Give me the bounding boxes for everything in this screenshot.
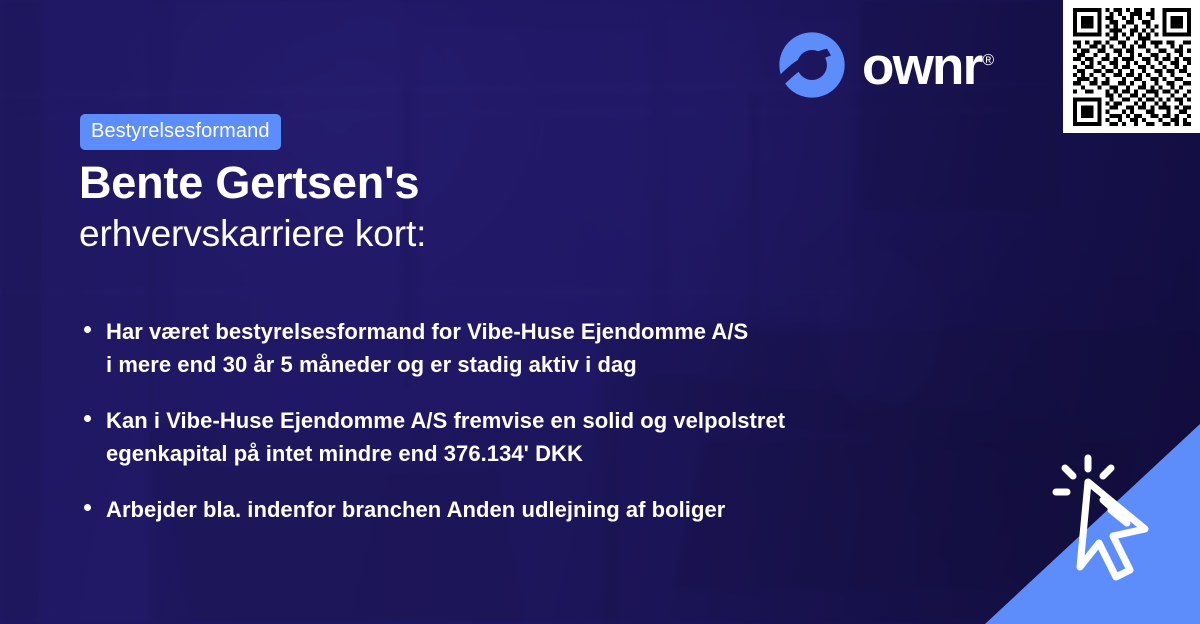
bullet-dot-icon (84, 415, 91, 422)
ownr-wordmark: ownr® (862, 40, 994, 93)
list-item: Kan i Vibe-Huse Ejendomme A/S fremvise e… (80, 404, 960, 471)
list-item-line-1: Arbejder bla. indenfor branchen Anden ud… (106, 497, 725, 522)
list-item-line-2: egenkapital på intet mindre end 376.134'… (106, 437, 960, 470)
click-cursor-icon (1056, 458, 1145, 577)
ownr-circle-swirl-logo-icon (778, 31, 846, 99)
corner-decoration (985, 424, 1200, 624)
page-subtitle: erhvervskarriere kort: (79, 212, 426, 256)
list-item-line-1: Kan i Vibe-Huse Ejendomme A/S fremvise e… (106, 408, 785, 433)
career-highlights-list: Har været bestyrelsesformand for Vibe-Hu… (80, 315, 960, 526)
list-item: Har været bestyrelsesformand for Vibe-Hu… (80, 315, 960, 382)
career-card: ownr® (0, 0, 1200, 624)
list-item: Arbejder bla. indenfor branchen Anden ud… (80, 493, 960, 526)
bullet-dot-icon (84, 326, 91, 333)
qr-code-panel[interactable] (1063, 0, 1200, 133)
list-item-line-2: i mere end 30 år 5 måneder og er stadig … (106, 348, 960, 381)
blue-corner-triangle (985, 424, 1200, 624)
page-title: Bente Gertsen's (79, 158, 419, 208)
registered-trademark-icon: ® (982, 52, 994, 69)
role-badge: Bestyrelsesformand (80, 114, 281, 150)
brand-name: ownr (862, 37, 981, 96)
bullet-dot-icon (84, 504, 91, 511)
list-item-line-1: Har været bestyrelsesformand for Vibe-Hu… (106, 319, 748, 344)
ownr-logo[interactable]: ownr® (778, 31, 994, 99)
qr-code-icon[interactable] (1073, 8, 1191, 126)
